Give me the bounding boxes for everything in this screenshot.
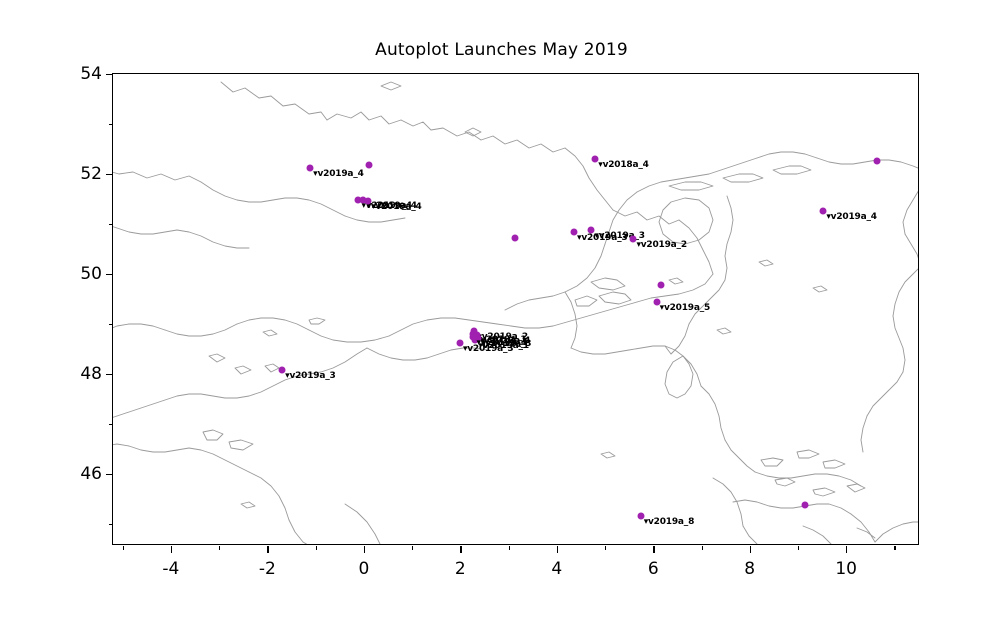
xtick-label-0: 0 [358,559,369,579]
xtick-minor-11 [894,546,895,550]
scatter-point [366,161,373,168]
ytick-label-54: 54 [80,64,102,84]
xtick-label-6: 6 [648,559,659,579]
scatter-point-label: ▾v2019a_3 [285,371,335,381]
xtick-minor-3 [509,546,510,550]
xtick-m2 [267,546,268,553]
xtick-minor-7 [702,546,703,550]
xtick-label-10: 10 [835,559,857,579]
xtick-0 [364,546,365,553]
xtick-label-2: 2 [455,559,466,579]
xtick-10 [846,546,847,553]
scatter-point [512,234,519,241]
scatter-points-layer: ▾v2019a_4▾v2019a_4▾v2019a_4▾v2019a_4▾v20… [113,74,918,544]
scatter-point-label: ▾v2019a_4 [826,212,876,222]
xtick-minor-5 [605,546,606,550]
xtick-6 [653,546,654,553]
scatter-point [801,502,808,509]
ytick-46 [106,474,113,475]
scatter-point [874,157,881,164]
xtick-label-4: 4 [551,559,562,579]
xtick-minor-m3 [219,546,220,550]
ytick-54 [106,74,113,75]
xtick-2 [460,546,461,553]
xtick-label-m2: -2 [259,559,276,579]
ytick-label-50: 50 [80,264,102,284]
scatter-point-label: ▾v2018a_4 [598,160,648,170]
xtick-minor-m1 [316,546,317,550]
ytick-label-52: 52 [80,164,102,184]
scatter-point-label: ▾v2019a_5 [660,303,710,313]
xtick-minor-9 [798,546,799,550]
xtick-m4 [171,546,172,553]
plot-axes: 54 52 50 48 46 -4 -2 0 2 4 6 8 [112,73,919,545]
xtick-8 [750,546,751,553]
figure-canvas: Autoplot Launches May 2019 [0,0,1003,633]
scatter-point-label: ▾v2019a_4 [476,338,526,348]
ytick-label-48: 48 [80,364,102,384]
xtick-minor-1 [412,546,413,550]
scatter-point-label: ▾v2019a_8 [644,517,694,527]
scatter-point-label: ▾v2019a_4 [371,202,421,212]
xtick-label-m4: -4 [162,559,179,579]
ytick-label-46: 46 [80,464,102,484]
xtick-4 [557,546,558,553]
scatter-point-label: ▾v2019a_4 [313,169,363,179]
ytick-50 [106,274,113,275]
xtick-minor-m5 [123,546,124,550]
scatter-point [657,282,664,289]
ytick-52 [106,174,113,175]
xtick-label-8: 8 [744,559,755,579]
ytick-48 [106,374,113,375]
chart-title: Autoplot Launches May 2019 [0,40,1003,60]
scatter-point-label: ▾v2019a_2 [636,240,686,250]
